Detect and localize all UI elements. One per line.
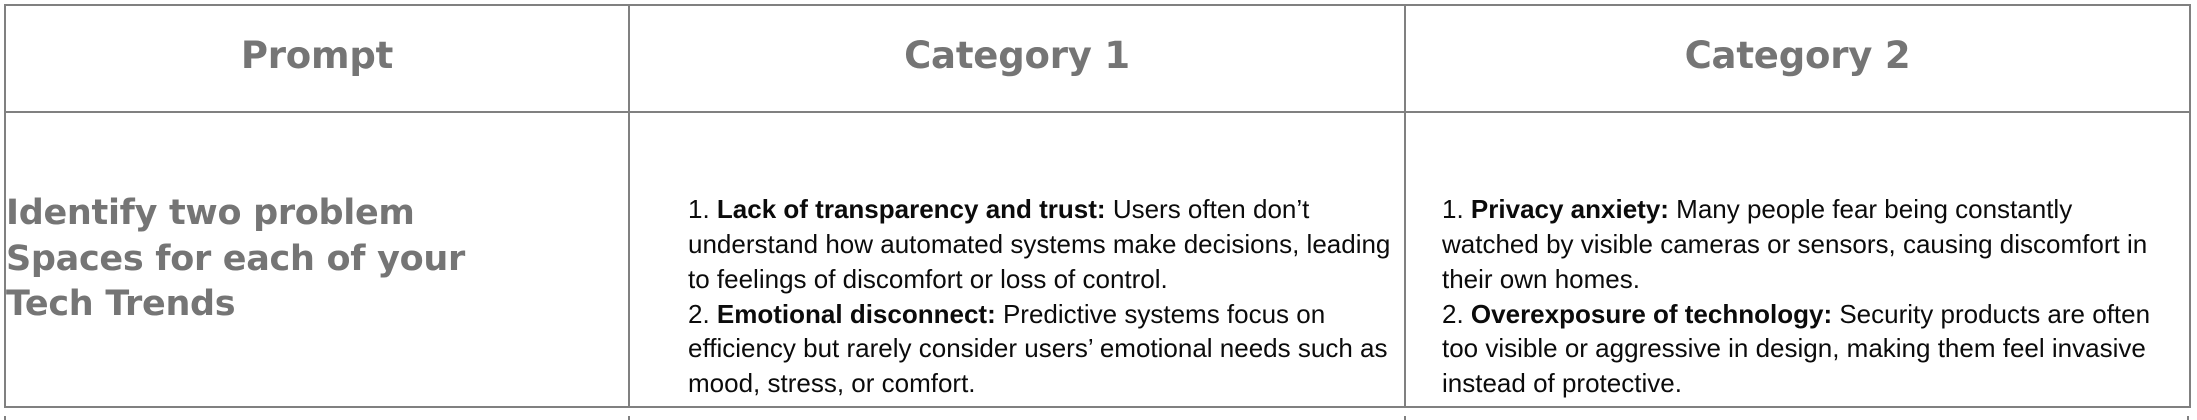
column-header-prompt: Prompt bbox=[5, 5, 629, 112]
document-canvas: Prompt Category 1 Category 2 Identify tw… bbox=[0, 0, 2197, 420]
item-title: Privacy anxiety: bbox=[1471, 194, 1669, 224]
category-2-list: 1. Privacy anxiety: Many people fear bei… bbox=[1442, 192, 2163, 401]
cell-category-2: 1. Privacy anxiety: Many people fear bei… bbox=[1405, 112, 2190, 407]
list-item: 1. Privacy anxiety: Many people fear bei… bbox=[1442, 192, 2163, 296]
column-header-category-2: Category 2 bbox=[1405, 5, 2190, 112]
item-title: Lack of transparency and trust: bbox=[717, 194, 1106, 224]
next-row-partial bbox=[4, 416, 2189, 420]
column-divider bbox=[628, 416, 630, 420]
column-header-category-2-label: Category 2 bbox=[1406, 36, 2189, 81]
list-item: 2. Emotional disconnect: Predictive syst… bbox=[688, 297, 1398, 401]
column-header-prompt-label: Prompt bbox=[6, 36, 628, 81]
cell-category-1: 1. Lack of transparency and trust: Users… bbox=[629, 112, 1405, 407]
item-number: 1. bbox=[688, 194, 710, 224]
item-title: Overexposure of technology: bbox=[1471, 299, 1832, 329]
cell-prompt: Identify two problem Spaces for each of … bbox=[5, 112, 629, 407]
list-item: 1. Lack of transparency and trust: Users… bbox=[688, 192, 1398, 296]
prompt-text: Identify two problem Spaces for each of … bbox=[6, 191, 546, 328]
column-header-category-1: Category 1 bbox=[629, 5, 1405, 112]
table-header-row: Prompt Category 1 Category 2 bbox=[5, 5, 2190, 112]
item-number: 2. bbox=[1442, 299, 1464, 329]
table-row: Identify two problem Spaces for each of … bbox=[5, 112, 2190, 407]
column-divider bbox=[1404, 416, 1406, 420]
column-header-category-1-label: Category 1 bbox=[630, 36, 1404, 81]
item-title: Emotional disconnect: bbox=[717, 299, 996, 329]
prompt-category-table: Prompt Category 1 Category 2 Identify tw… bbox=[4, 4, 2191, 408]
list-item: 2. Overexposure of technology: Security … bbox=[1442, 297, 2163, 401]
item-number: 1. bbox=[1442, 194, 1464, 224]
category-1-list: 1. Lack of transparency and trust: Users… bbox=[688, 192, 1398, 401]
item-number: 2. bbox=[688, 299, 710, 329]
category-1-content: 1. Lack of transparency and trust: Users… bbox=[630, 118, 1404, 401]
category-2-content: 1. Privacy anxiety: Many people fear bei… bbox=[1406, 118, 2189, 401]
